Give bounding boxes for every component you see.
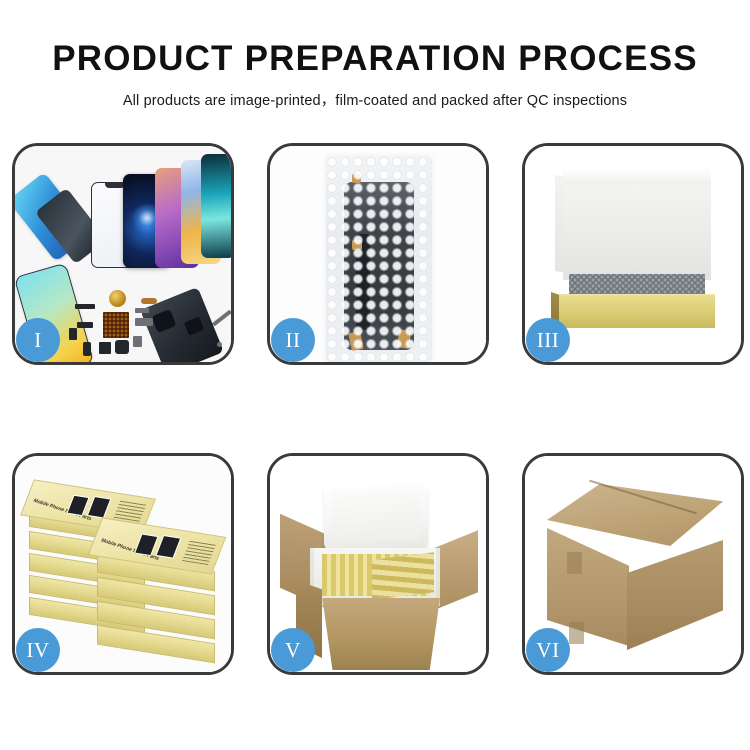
flex-cable-3 (135, 318, 153, 326)
packed-yellow-boxes-right (372, 552, 434, 600)
step-panel-3[interactable]: III (522, 143, 744, 365)
step-panel-5[interactable]: V (267, 453, 489, 675)
carton-tape-upper (567, 552, 582, 574)
step-badge-3: III (526, 318, 570, 362)
carton-tape-lower (569, 622, 584, 644)
step-badge-2: II (271, 318, 315, 362)
page-subtitle: All products are image-printed，film-coat… (0, 89, 750, 110)
flex-cable-1 (141, 298, 157, 304)
phone-display-teal (201, 154, 231, 258)
box-spec-lines-right (182, 539, 216, 565)
step-panel-4[interactable]: Mobile Phone Spare Parts Mobile Phone Sp… (12, 453, 234, 675)
bubble-wrap-bag (326, 156, 432, 362)
step-badge-4: IV (16, 628, 60, 672)
step-panel-2[interactable]: II (267, 143, 489, 365)
box-art-thumb-r1 (134, 534, 159, 556)
box-front-yellow (559, 298, 715, 328)
battery-connector (75, 304, 95, 309)
product-preparation-infographic: PRODUCT PREPARATION PROCESS All products… (0, 0, 750, 750)
logic-board-grid (103, 312, 129, 338)
step-panel-6[interactable]: VI (522, 453, 744, 675)
camera-module (69, 328, 77, 340)
antenna-strip (77, 322, 93, 328)
carton-front (312, 598, 440, 670)
charging-port (133, 336, 142, 347)
box-art-thumb-l2 (87, 496, 112, 518)
foam-lid (324, 484, 428, 550)
screw-part (217, 342, 222, 347)
page-title: PRODUCT PREPARATION PROCESS (0, 38, 750, 80)
box-art-thumb-l1 (66, 495, 89, 516)
step-panel-1[interactable]: I (12, 143, 234, 365)
flex-cable-2 (135, 308, 149, 313)
step-badge-1: I (16, 318, 60, 362)
speaker-component (109, 290, 126, 307)
sim-tray (83, 342, 91, 356)
header: PRODUCT PREPARATION PROCESS All products… (0, 0, 750, 110)
step-badge-6: VI (526, 628, 570, 672)
box-lid-panel (563, 168, 711, 280)
vibrator-motor (99, 342, 111, 354)
step-badge-5: V (271, 628, 315, 672)
box-lid-edge (563, 168, 711, 184)
box-art-thumb-r2 (155, 535, 181, 559)
earpiece-speaker (115, 340, 129, 354)
process-step-grid: I II (12, 143, 738, 675)
